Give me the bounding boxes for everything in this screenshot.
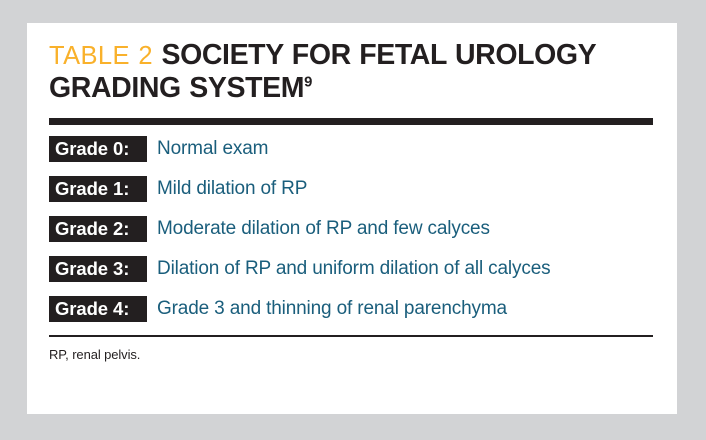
footnote-divider-thin — [49, 335, 653, 337]
table-row: Grade 2: Moderate dilation of RP and few… — [49, 216, 653, 242]
table-row: Grade 3: Dilation of RP and uniform dila… — [49, 256, 653, 282]
grade-description: Normal exam — [147, 136, 653, 162]
reference-superscript: 9 — [304, 74, 312, 90]
footnote-section: RP, renal pelvis. — [49, 335, 653, 362]
table-content: TABLE 2 SOCIETY FOR FETAL UROLOGY GRADIN… — [49, 37, 653, 362]
table-row: Grade 4: Grade 3 and thinning of renal p… — [49, 296, 653, 322]
table-row: Grade 0: Normal exam — [49, 136, 653, 162]
grade-label-chip: Grade 4: — [49, 296, 147, 322]
table-card: TABLE 2 SOCIETY FOR FETAL UROLOGY GRADIN… — [27, 23, 677, 414]
grade-description: Dilation of RP and uniform dilation of a… — [147, 256, 653, 282]
grade-label-chip: Grade 1: — [49, 176, 147, 202]
table-row: Grade 1: Mild dilation of RP — [49, 176, 653, 202]
page-title: TABLE 2 SOCIETY FOR FETAL UROLOGY GRADIN… — [49, 37, 653, 102]
footnote-text: RP, renal pelvis. — [49, 347, 653, 362]
grade-label-chip: Grade 0: — [49, 136, 147, 162]
grade-description: Mild dilation of RP — [147, 176, 653, 202]
grade-description: Grade 3 and thinning of renal parenchyma — [147, 296, 653, 322]
table-number-label: TABLE 2 — [49, 42, 153, 70]
grade-label-chip: Grade 2: — [49, 216, 147, 242]
grade-list: Grade 0: Normal exam Grade 1: Mild dilat… — [49, 136, 653, 322]
header-divider-thick — [49, 118, 653, 125]
grade-description: Moderate dilation of RP and few calyces — [147, 216, 653, 242]
grade-label-chip: Grade 3: — [49, 256, 147, 282]
